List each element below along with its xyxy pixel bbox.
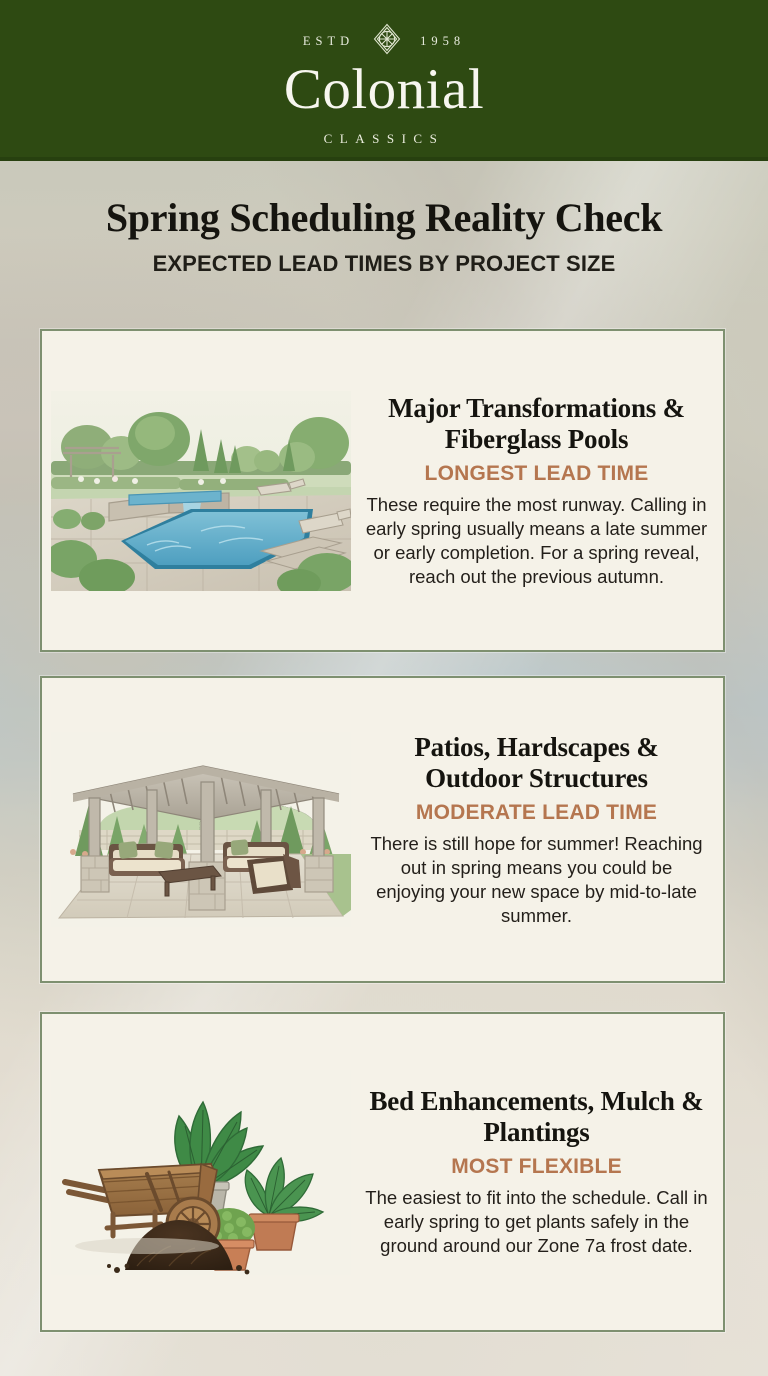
established-year: 1958 <box>420 34 465 49</box>
lead-time-badge: LONGEST LEAD TIME <box>364 462 709 486</box>
established-label: ESTD <box>303 34 354 49</box>
page-title: Spring Scheduling Reality Check <box>0 196 768 240</box>
page-subtitle: EXPECTED LEAD TIMES BY PROJECT SIZE <box>0 251 768 277</box>
card-text-body: Patios, Hardscapes & Outdoor Structures … <box>360 732 723 928</box>
card-title: Major Transformations & Fiberglass Pools <box>364 393 709 455</box>
lead-time-card: Major Transformations & Fiberglass Pools… <box>40 329 725 652</box>
lead-time-card: Patios, Hardscapes & Outdoor Structures … <box>40 676 725 983</box>
brand-tagline: CLASSICS <box>0 131 768 147</box>
lead-time-badge: MOST FLEXIBLE <box>364 1155 709 1179</box>
card-description: These require the most runway. Calling i… <box>364 493 709 589</box>
swimming-pool-patio-illustration <box>42 331 360 650</box>
card-title: Patios, Hardscapes & Outdoor Structures <box>364 732 709 794</box>
pergola-patio-furniture-illustration <box>42 678 360 981</box>
card-text-body: Bed Enhancements, Mulch & Plantings MOST… <box>360 1086 723 1258</box>
card-text-body: Major Transformations & Fiberglass Pools… <box>360 393 723 589</box>
wheelbarrow-mulch-plants-illustration <box>42 1014 360 1330</box>
card-description: There is still hope for summer! Reaching… <box>364 832 709 928</box>
card-title: Bed Enhancements, Mulch & Plantings <box>364 1086 709 1148</box>
title-block: Spring Scheduling Reality Check EXPECTED… <box>0 162 768 277</box>
brand-name: Colonial <box>0 60 768 120</box>
diamond-rosette-icon <box>372 23 402 60</box>
card-description: The easiest to fit into the schedule. Ca… <box>364 1186 709 1258</box>
infographic-page: ESTD 1958 Colonial CLASSICS Spring Sched… <box>0 0 768 1376</box>
established-row: ESTD 1958 <box>0 26 768 56</box>
brand-header: ESTD 1958 Colonial CLASSICS <box>0 0 768 161</box>
lead-time-badge: MODERATE LEAD TIME <box>364 801 709 825</box>
lead-time-card: Bed Enhancements, Mulch & Plantings MOST… <box>40 1012 725 1332</box>
